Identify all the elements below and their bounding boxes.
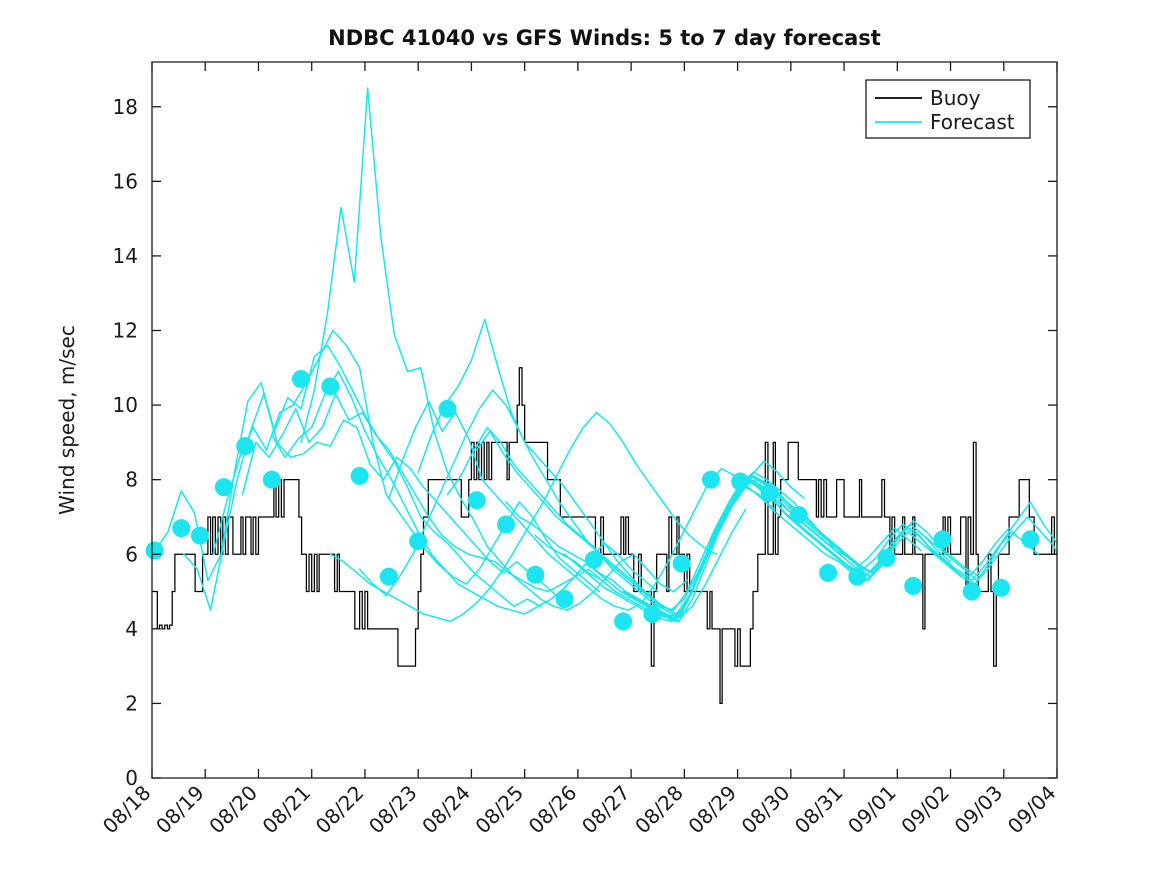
data-point-marker — [526, 566, 544, 584]
data-point-marker — [904, 577, 922, 595]
data-point-marker — [497, 515, 515, 533]
data-point-marker — [468, 491, 486, 509]
chart-figure: 02468101214161808/1808/1908/2008/2108/22… — [0, 0, 1167, 875]
data-point-marker — [351, 467, 369, 485]
data-point-marker — [702, 471, 720, 489]
data-point-marker — [292, 370, 310, 388]
data-point-marker — [614, 612, 632, 630]
data-point-marker — [236, 437, 254, 455]
data-point-marker — [438, 400, 456, 418]
data-point-marker — [215, 478, 233, 496]
page-title: NDBC 41040 vs GFS Winds: 5 to 7 day fore… — [328, 26, 881, 50]
data-point-marker — [1021, 530, 1039, 548]
data-point-marker — [992, 579, 1010, 597]
data-point-marker — [934, 530, 952, 548]
data-point-marker — [673, 555, 691, 573]
data-point-marker — [819, 564, 837, 582]
y-axis-label: Wind speed, m/sec — [55, 325, 79, 515]
data-point-marker — [409, 532, 427, 550]
y-tick-label: 18 — [113, 95, 138, 119]
legend-label-buoy: Buoy — [930, 86, 981, 110]
data-point-marker — [643, 605, 661, 623]
data-point-marker — [263, 471, 281, 489]
data-point-marker — [790, 506, 808, 524]
y-tick-label: 16 — [113, 169, 138, 193]
data-point-marker — [731, 473, 749, 491]
data-point-marker — [556, 590, 574, 608]
y-tick-label: 2 — [125, 691, 138, 715]
y-tick-label: 4 — [125, 617, 138, 641]
y-tick-label: 6 — [125, 542, 138, 566]
data-point-marker — [963, 583, 981, 601]
data-point-marker — [146, 542, 164, 560]
data-point-marker — [761, 484, 779, 502]
y-tick-label: 10 — [113, 393, 138, 417]
data-point-marker — [848, 568, 866, 586]
wind-speed-chart: 02468101214161808/1808/1908/2008/2108/22… — [0, 0, 1167, 875]
legend[interactable]: BuoyForecast — [866, 80, 1030, 138]
data-point-marker — [321, 377, 339, 395]
legend-label-forecast: Forecast — [930, 110, 1015, 134]
y-tick-label: 12 — [113, 319, 138, 343]
data-point-marker — [172, 519, 190, 537]
data-point-marker — [380, 568, 398, 586]
y-tick-label: 14 — [113, 244, 138, 268]
data-point-marker — [878, 549, 896, 567]
y-tick-label: 8 — [125, 468, 138, 492]
data-point-marker — [585, 551, 603, 569]
data-point-marker — [191, 527, 209, 545]
